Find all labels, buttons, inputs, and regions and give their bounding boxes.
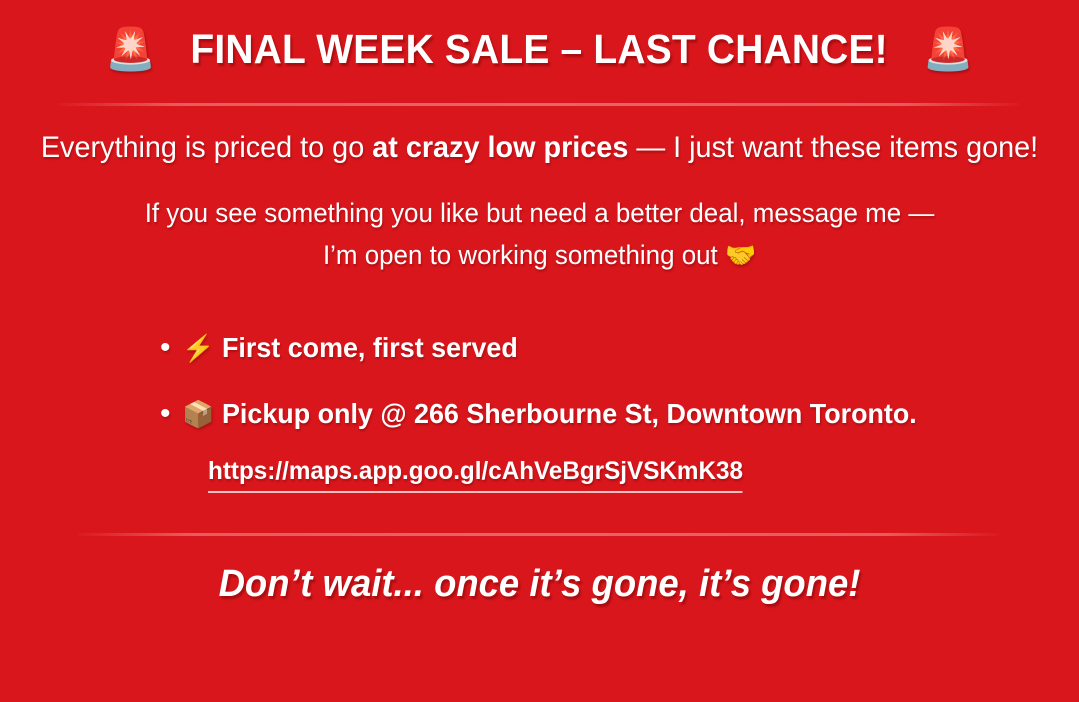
page-title: FINAL WEEK SALE – LAST CHANCE! <box>191 29 888 70</box>
pickup-address: 266 Sherbourne St, Downtown Toronto. <box>414 398 917 429</box>
list-item-first-come: • ⚡ First come, first served <box>160 327 1040 369</box>
list-item-pickup: • 📦 Pickup only @ 266 Sherbourne St, Dow… <box>160 393 1040 435</box>
negotiation-paragraph: If you see something you like but need a… <box>22 192 1058 276</box>
bullet-marker: • <box>160 393 182 435</box>
lead-before-bold: Everything is priced to go <box>41 131 372 164</box>
divider-bottom <box>78 533 998 536</box>
divider-top <box>58 103 1020 106</box>
pickup-prefix: Pickup only @ <box>222 398 414 429</box>
bullet-marker: • <box>160 327 182 369</box>
headline: 🚨 FINAL WEEK SALE – LAST CHANCE! 🚨 <box>0 0 1079 68</box>
google-maps-link[interactable]: https://maps.app.goo.gl/cAhVeBgrSjVSKmK3… <box>208 455 743 493</box>
negotiation-line-1: If you see something you like but need a… <box>22 192 1058 234</box>
lead-after-bold: — I just want these items gone! <box>628 131 1038 164</box>
body-copy: Everything is priced to go at crazy low … <box>0 128 1079 276</box>
map-link-row[interactable]: https://maps.app.goo.gl/cAhVeBgrSjVSKmK3… <box>208 455 759 493</box>
lead-line: Everything is priced to go at crazy low … <box>22 128 1058 168</box>
bullet-list: • ⚡ First come, first served • 📦 Pickup … <box>160 327 1040 459</box>
lead-bold-phrase: at crazy low prices <box>372 131 628 164</box>
footer: Don’t wait... once it’s gone, it’s gone! <box>0 558 1079 610</box>
negotiation-line-2: I’m open to working something out 🤝 <box>22 234 1058 276</box>
list-item-label: First come, first served <box>222 327 518 369</box>
handshake-icon: 🤝 <box>725 240 756 270</box>
high-voltage-icon: ⚡ <box>182 327 214 369</box>
negotiation-line-2-text: I’m open to working something out <box>323 240 725 270</box>
list-item-label: Pickup only @ 266 Sherbourne St, Downtow… <box>222 393 917 435</box>
package-icon: 📦 <box>182 393 214 435</box>
footer-tagline: Don’t wait... once it’s gone, it’s gone! <box>22 558 1058 610</box>
sale-flyer: 🚨 FINAL WEEK SALE – LAST CHANCE! 🚨 Every… <box>0 0 1079 702</box>
police-car-light-icon-left: 🚨 <box>105 29 156 70</box>
police-car-light-icon-right: 🚨 <box>923 29 974 70</box>
